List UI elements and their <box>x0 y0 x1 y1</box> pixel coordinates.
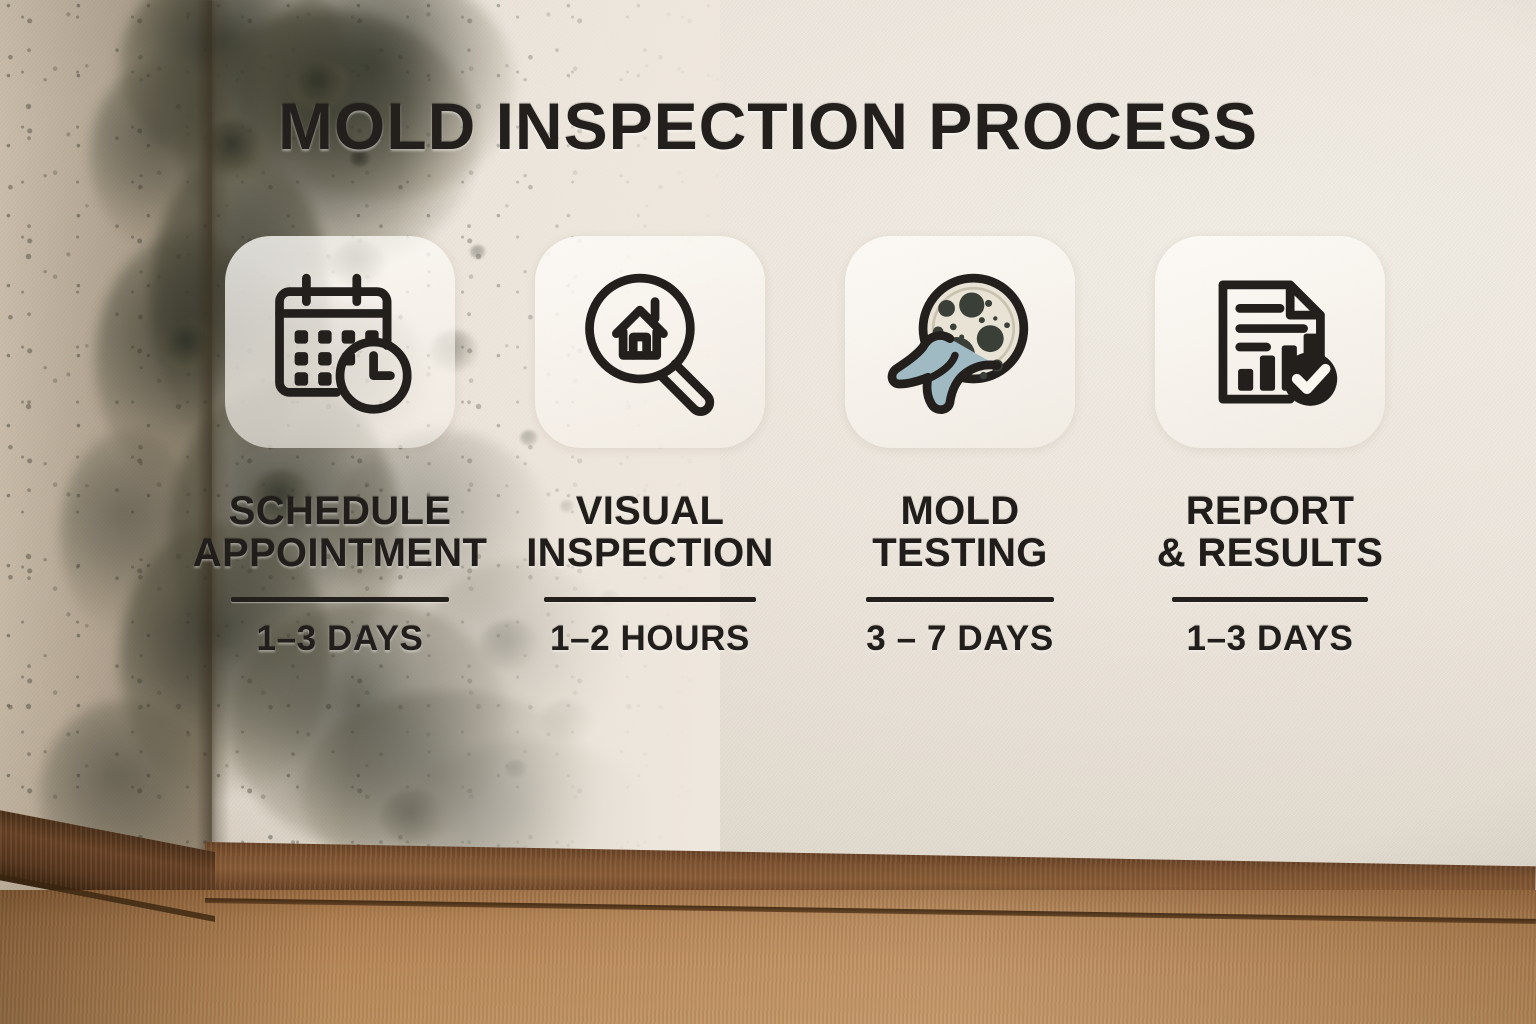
icon-card-schedule-appointment[interactable] <box>225 236 455 448</box>
icon-card-mold-testing[interactable] <box>845 236 1075 448</box>
process-step-report-results[interactable]: REPORT & RESULTS 1–3 DAYS <box>1120 236 1420 659</box>
step-label: VISUAL INSPECTION <box>526 490 773 575</box>
icon-card-visual-inspection[interactable] <box>535 236 765 448</box>
process-step-schedule-appointment[interactable]: SCHEDULE APPOINTMENT 1–3 DAYS <box>190 236 490 659</box>
step-label: MOLD TESTING <box>872 490 1047 575</box>
icon-card-report-results[interactable] <box>1155 236 1385 448</box>
step-duration: 3 – 7 DAYS <box>866 619 1054 659</box>
step-label: SCHEDULE APPOINTMENT <box>193 490 487 575</box>
poster-scene: MOLD INSPECTION PROCESS <box>0 0 1536 1024</box>
process-steps: SCHEDULE APPOINTMENT 1–3 DAYS <box>190 236 1420 659</box>
step-divider <box>231 597 449 602</box>
step-duration: 1–2 HOURS <box>550 619 750 659</box>
step-duration: 1–3 DAYS <box>257 619 424 659</box>
calendar-clock-icon <box>256 258 424 426</box>
step-divider <box>544 597 756 602</box>
process-step-visual-inspection[interactable]: VISUAL INSPECTION 1–2 HOURS <box>500 236 800 659</box>
gloved-hand-petri-dish-icon <box>876 258 1044 426</box>
step-divider <box>1172 597 1368 602</box>
magnifier-house-icon <box>566 258 734 426</box>
step-duration: 1–3 DAYS <box>1187 619 1354 659</box>
report-chart-check-icon <box>1186 258 1354 426</box>
step-divider <box>866 597 1054 602</box>
poster-content: MOLD INSPECTION PROCESS <box>0 0 1536 1024</box>
step-label: REPORT & RESULTS <box>1157 490 1383 575</box>
page-title: MOLD INSPECTION PROCESS <box>0 88 1536 164</box>
process-step-mold-testing[interactable]: MOLD TESTING 3 – 7 DAYS <box>810 236 1110 659</box>
